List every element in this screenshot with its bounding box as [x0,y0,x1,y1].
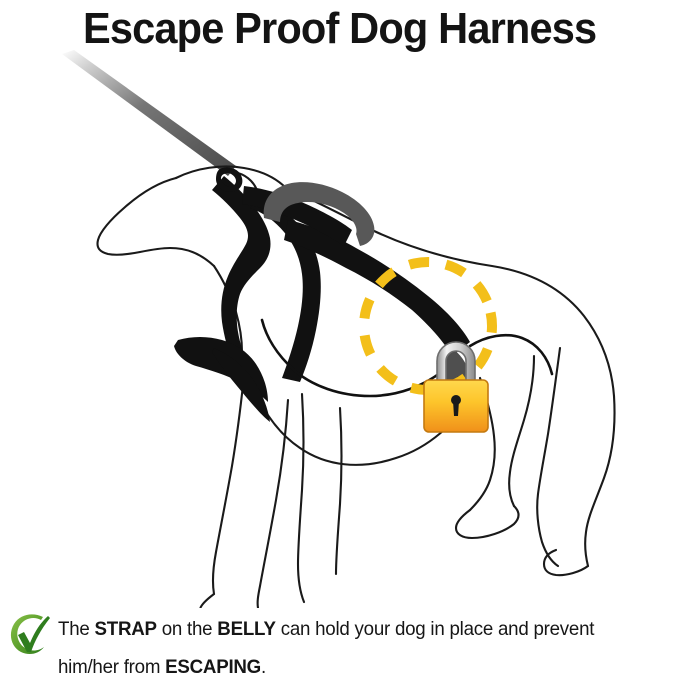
dog-harness-illustration [0,48,679,608]
caption-text: The STRAP on the BELLY can hold your dog… [58,610,647,686]
green-check-icon [9,612,53,656]
page-title: Escape Proof Dog Harness [83,5,596,53]
leash [62,50,236,176]
product-feature-image: Escape Proof Dog Harness [0,0,679,691]
caption-line-2: him/her from ESCAPING. [58,648,647,686]
caption-line-1: The STRAP on the BELLY can hold your dog… [58,610,647,648]
caption-block: The STRAP on the BELLY can hold your dog… [0,604,679,691]
dog-outline [97,166,614,608]
